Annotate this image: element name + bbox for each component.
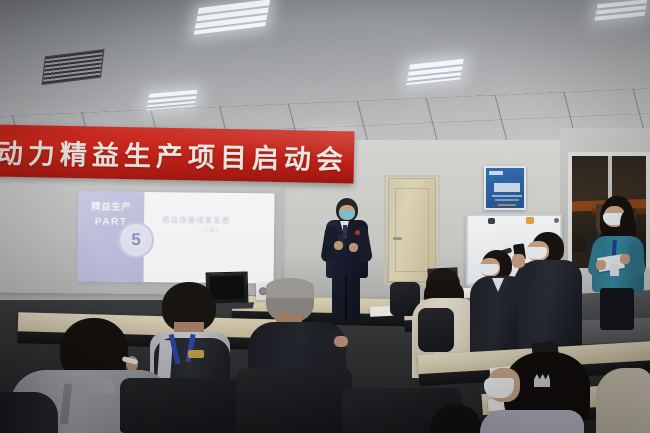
poster-headline-block [494, 183, 520, 192]
speaker-hand [349, 243, 358, 252]
whiteboard-clip-icon [526, 217, 534, 224]
trousers [600, 288, 634, 330]
person-attendee-front-hairclip [480, 352, 608, 433]
presentation-slide: 精益生产 PART 精益改善成果发表 — 汇报人 5 [78, 191, 275, 283]
slide-section-title: 精益生产 [91, 199, 132, 213]
slide-heading: 精益改善成果发表 [162, 214, 230, 226]
conference-room-screenshot: 动力精益生产项目启动会 精益生产 PART 精益改善成果发表 — 汇报人 5 [0, 0, 650, 433]
poster-accent-line [498, 204, 516, 206]
speaker-hand [334, 241, 343, 250]
face-mask-icon [526, 247, 547, 259]
office-chair [120, 378, 240, 433]
face-mask-icon [339, 210, 355, 219]
door-handle-icon[interactable] [393, 237, 402, 240]
ceiling-light-panel [406, 59, 463, 85]
id-badge [610, 264, 619, 276]
slide-right-panel: 精益改善成果发表 — 汇报人 [144, 192, 275, 283]
lavender-top [480, 410, 584, 433]
red-banner: 动力精益生产项目启动会 [0, 125, 354, 184]
hand [512, 254, 525, 268]
door-panel [395, 188, 429, 272]
poster-text-line [492, 195, 522, 197]
ceiling-light-panel [194, 0, 271, 35]
slide-number-badge: 5 [118, 222, 154, 258]
office-chair [236, 368, 352, 433]
blue-poster [484, 166, 526, 210]
person-foreground-beige-shoulder [596, 368, 650, 433]
slide-subheading: — 汇报人 [198, 228, 219, 234]
person-attendee-photographer [518, 232, 582, 354]
office-chair [418, 308, 454, 352]
hair-clip-icon [534, 374, 550, 387]
person-foreground-dark-shoulder [0, 392, 58, 433]
wood-door[interactable] [388, 178, 436, 282]
poster-text-line [495, 199, 519, 201]
face-mask-icon [484, 378, 514, 398]
hand [596, 260, 606, 270]
person-staff-teal-jacket [592, 196, 644, 328]
hand [334, 336, 348, 347]
speaker-tie [343, 225, 347, 239]
banner-title: 动力精益生产项目启动会 [0, 131, 354, 177]
hvac-vent-icon [41, 49, 104, 85]
whiteboard-screw [554, 218, 559, 223]
lapel-badge [355, 230, 360, 235]
poster-logo [489, 171, 503, 175]
hand [620, 254, 630, 264]
whiteboard-clip-icon [488, 218, 495, 224]
ceiling-light-panel [595, 0, 648, 21]
gray-hair [266, 278, 314, 298]
slide-part-number: 5 [131, 230, 141, 250]
lanyard-clip [188, 350, 204, 358]
